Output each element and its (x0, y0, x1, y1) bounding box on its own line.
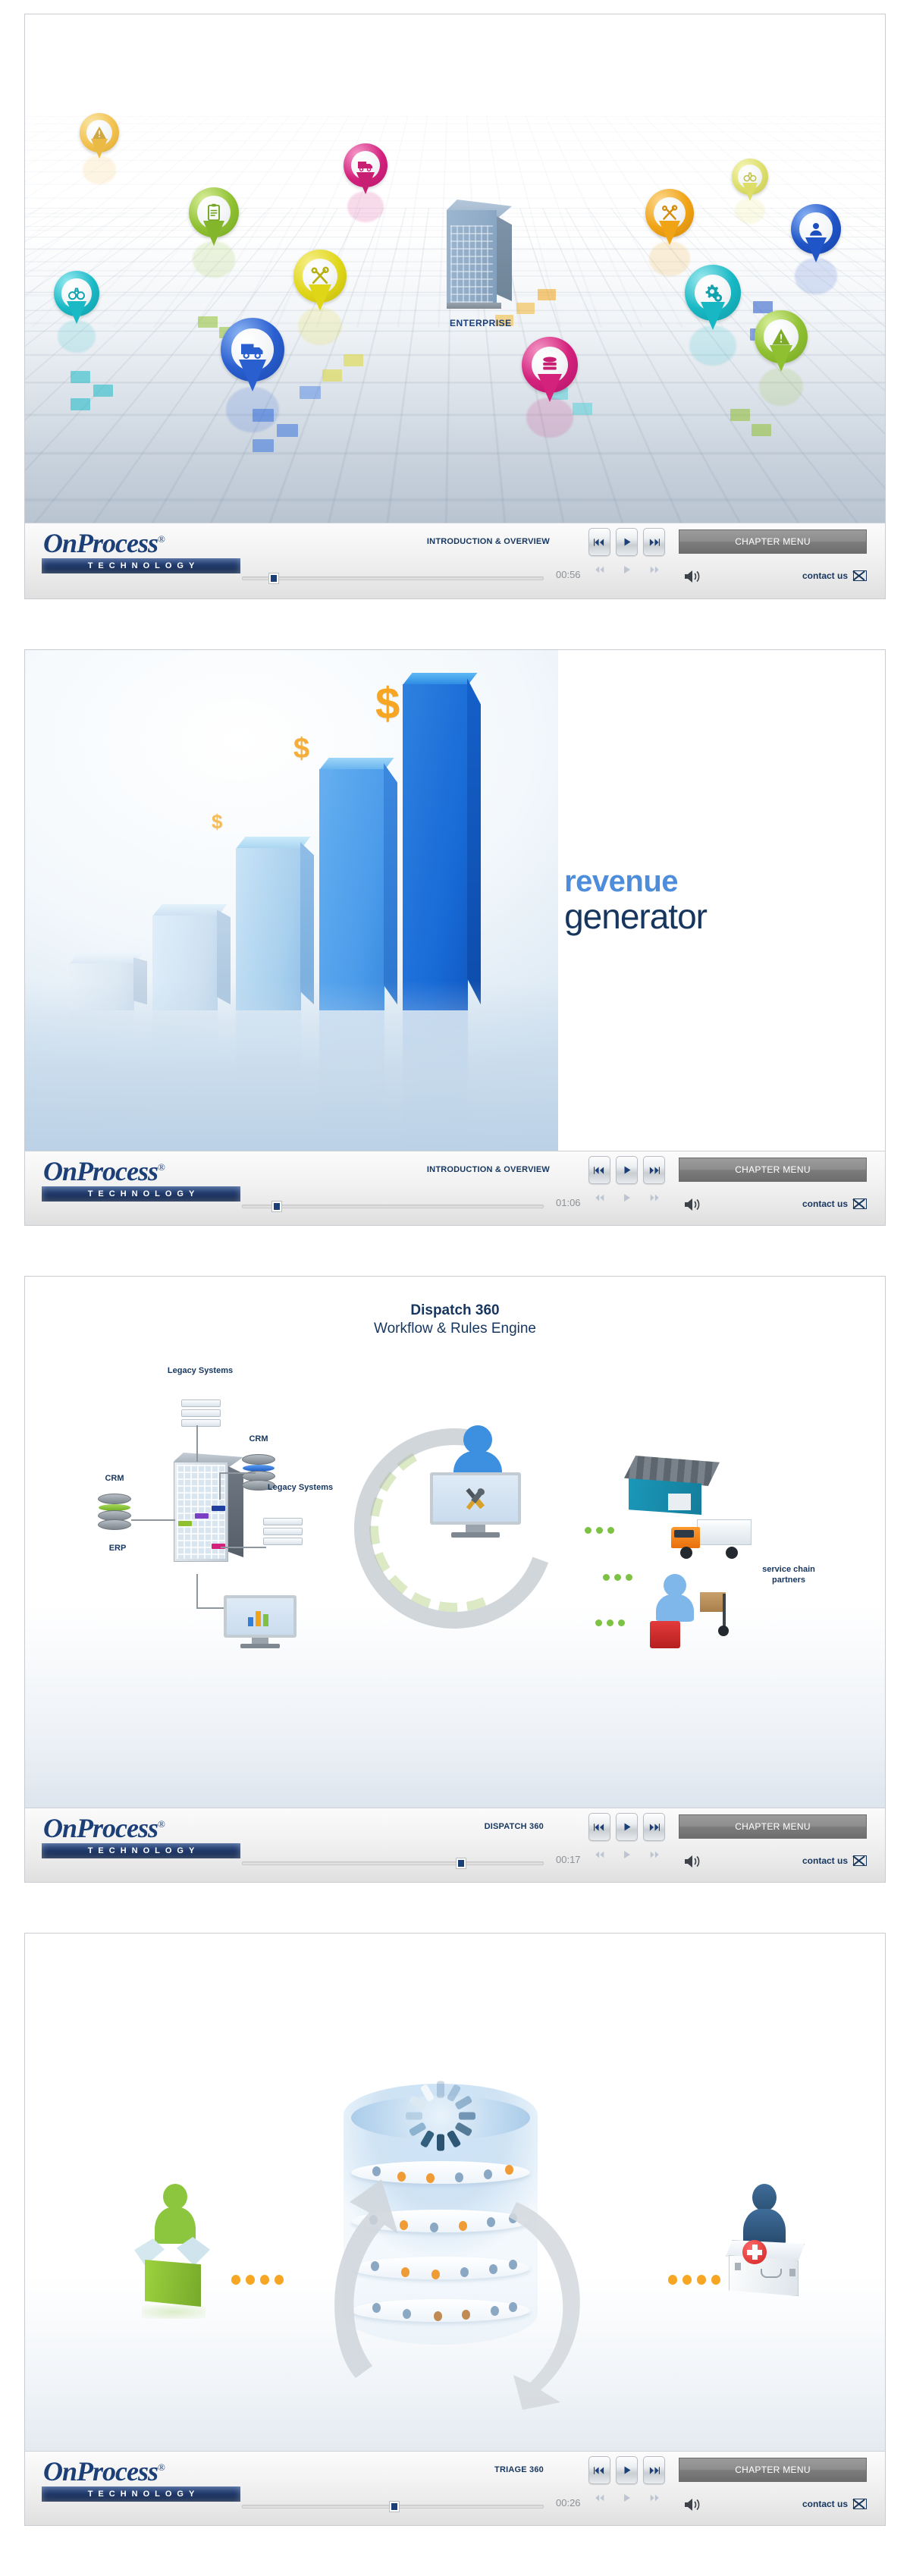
logo-wordmark: OnProcess (43, 1813, 158, 1843)
data-node (460, 2267, 469, 2277)
connector-line (131, 1519, 175, 1521)
radial-fan-icon (391, 2074, 490, 2163)
dot (595, 1619, 602, 1626)
slide-deck-page: ENTERPRISE (0, 14, 910, 2526)
person-head (752, 2184, 777, 2211)
pin-reflection (226, 387, 280, 432)
data-node (426, 2173, 435, 2183)
dot (614, 1574, 621, 1581)
logo-wordmark: OnProcess (43, 1156, 158, 1186)
map-tile (300, 386, 321, 399)
diagram-title-line1: Dispatch 360 (25, 1302, 885, 1319)
warehouse-icon (624, 1456, 720, 1518)
blade-unit (181, 1409, 221, 1417)
enterprise-label: ENTERPRISE (450, 318, 512, 328)
truck-box (697, 1519, 752, 1545)
map-tile (253, 439, 274, 452)
legacy-systems-right-stack (263, 1518, 303, 1548)
rack-led-green (178, 1521, 192, 1526)
label-legacy-top: Legacy Systems (166, 1366, 234, 1375)
label-crm-top: CRM (239, 1434, 278, 1444)
chapter-menu-button[interactable]: CHAPTER MENU (679, 529, 867, 554)
cross-horizontal (747, 2250, 762, 2255)
clipboard-icon (204, 203, 224, 222)
connector-line (219, 1472, 256, 1474)
dot-connector-truck (603, 1574, 632, 1581)
play-button-reflection (616, 1184, 638, 1212)
triage-diagram-canvas (25, 1934, 885, 2451)
red-bag-icon (650, 1621, 680, 1648)
slide-stage-triage-diagram (25, 1934, 885, 2451)
control-buttons-reflection (588, 1841, 665, 1869)
data-node (455, 2172, 463, 2182)
data-node (459, 2221, 467, 2231)
user-icon (806, 219, 826, 239)
chapter-title: INTRODUCTION & OVERVIEW (427, 537, 550, 546)
bar-top-face (152, 904, 227, 916)
progress-knob[interactable] (272, 1202, 281, 1211)
warning-triangle-icon (770, 326, 792, 347)
chart-bar (69, 963, 134, 1010)
onprocess-logo: OnProcess® TECHNOLOGY (42, 1158, 240, 1202)
bar-reflection (69, 1010, 134, 1035)
data-node (430, 2223, 438, 2232)
blade-unit (263, 1538, 303, 1545)
play-button[interactable] (616, 2456, 638, 2484)
contact-us-link[interactable]: contact us (802, 1198, 867, 1209)
progress-knob[interactable] (269, 573, 278, 583)
slide-stage-revenue-chart: $ $ $ revenue generator (25, 650, 885, 1151)
chart-area: $ $ $ (25, 650, 558, 1151)
video-slide-triage-360: OnProcess® TECHNOLOGY TRIAGE 360 CHAPTER… (24, 1933, 886, 2526)
data-node (462, 2310, 470, 2320)
envelope-icon (853, 1855, 867, 1866)
contact-us-link[interactable]: contact us (802, 570, 867, 581)
chapter-menu-button[interactable]: CHAPTER MENU (679, 1158, 867, 1182)
gears-icon (701, 281, 724, 304)
pin-reflection (298, 307, 343, 345)
dot (585, 1527, 591, 1534)
dot (682, 2275, 692, 2285)
data-node (489, 2264, 497, 2274)
bar-top-face (319, 758, 394, 770)
progress-slider[interactable] (242, 1202, 544, 1211)
kit-handle (761, 2269, 782, 2278)
chart-bar (236, 848, 301, 1010)
chart-bar (403, 684, 468, 1010)
dot (607, 1619, 613, 1626)
forward-button-reflection (643, 2484, 665, 2512)
video-slide-revenue-generator: $ $ $ revenue generator OnProcess® TECHN… (24, 649, 886, 1226)
play-button-reflection (616, 2484, 638, 2512)
progress-slider[interactable] (242, 1858, 544, 1868)
dollar-annotation-medium: $ (293, 733, 309, 765)
rewind-button[interactable] (588, 1813, 610, 1841)
kit-latch (735, 2263, 741, 2270)
progress-track[interactable] (242, 576, 544, 580)
logo-technology-band: TECHNOLOGY (42, 1843, 240, 1858)
map-pin-tools-orange[interactable] (645, 189, 694, 237)
person-body (743, 2209, 786, 2245)
map-tile (71, 398, 90, 410)
contact-us-link[interactable]: contact us (802, 2499, 867, 2509)
dollar-annotation-large: $ (375, 678, 400, 729)
person-body (656, 1594, 694, 1622)
technician-person-icon (742, 2184, 786, 2249)
label-legacy-top-text: Legacy Systems (168, 1366, 233, 1375)
onprocess-logo: OnProcess® TECHNOLOGY (42, 1814, 240, 1858)
map-pin-user-blue[interactable] (791, 204, 841, 254)
time-display: 00:26 (556, 2497, 581, 2508)
label-crm-left: CRM (95, 1474, 134, 1483)
data-node (487, 2217, 495, 2227)
registered-mark: ® (158, 1161, 165, 1173)
progress-slider[interactable] (242, 2502, 544, 2511)
handtruck-wheel (718, 1626, 729, 1636)
first-aid-cross-icon (742, 2240, 767, 2264)
bar-side-face (133, 957, 147, 1004)
chapter-menu-button[interactable]: CHAPTER MENU (679, 1814, 867, 1839)
bar-top-face (403, 673, 478, 685)
box-shadow (142, 2305, 206, 2319)
monitor-neck (252, 1638, 268, 1644)
truck-wheel (680, 1547, 692, 1559)
forward-button-reflection (643, 1841, 665, 1869)
registered-mark: ® (158, 1818, 165, 1830)
playback-controls (588, 1156, 665, 1184)
technician-with-kit (723, 2184, 814, 2313)
rack-led-purple (195, 1513, 209, 1519)
enterprise-building-icon (447, 199, 516, 312)
pin-reflection (649, 241, 690, 276)
pin-reflection (83, 156, 116, 184)
time-display: 00:56 (556, 569, 581, 580)
db-disc-top (242, 1454, 275, 1465)
pin-reflection (58, 320, 96, 353)
map-pin-truck-blue[interactable] (221, 318, 284, 382)
dot (626, 1574, 632, 1581)
rewind-button-reflection (588, 2484, 610, 2512)
dollar-annotation-small: $ (212, 810, 222, 834)
box-body (145, 2260, 201, 2307)
pin-reflection (795, 258, 836, 294)
slide-stage-dispatch-diagram: Dispatch 360 Workflow & Rules Engine (25, 1277, 885, 1808)
dot (618, 1619, 625, 1626)
person-head (664, 1574, 686, 1597)
map-pin-warning-green[interactable] (755, 310, 808, 363)
scp-line1: service chain (762, 1565, 815, 1574)
control-buttons-reflection (588, 556, 665, 584)
contact-us-label: contact us (802, 570, 848, 581)
pin-reflection (689, 325, 736, 366)
map-pin-tools-yellow[interactable] (293, 250, 347, 303)
registered-mark: ® (158, 533, 165, 545)
progress-knob[interactable] (457, 1858, 466, 1868)
rewind-button[interactable] (588, 528, 610, 556)
map-tile (538, 289, 556, 300)
video-slide-dispatch-360: Dispatch 360 Workflow & Rules Engine (24, 1276, 886, 1883)
customer-person-icon (154, 2184, 196, 2248)
revenue-chart-layout: $ $ $ revenue generator (25, 650, 885, 1151)
monitor-screen (224, 1595, 297, 1638)
contact-us-label: contact us (802, 1198, 848, 1209)
circulation-arrow-left (300, 2175, 413, 2391)
fast-forward-button[interactable] (643, 1813, 665, 1841)
volume-speaker-icon[interactable] (683, 2497, 703, 2512)
fast-forward-button[interactable] (643, 528, 665, 556)
map-pin-warning-yellow[interactable] (80, 113, 119, 152)
dot (596, 1527, 603, 1534)
diagram-title: Dispatch 360 Workflow & Rules Engine (25, 1302, 885, 1337)
db-disc-top (98, 1494, 131, 1504)
handtruck-load (700, 1592, 726, 1612)
label-erp-left: ERP (98, 1544, 137, 1553)
play-button[interactable] (616, 1156, 638, 1184)
progress-track[interactable] (242, 1205, 544, 1208)
connector-line (219, 1472, 221, 1500)
map-pin-binoculars-teal[interactable] (54, 271, 99, 316)
rewind-button[interactable] (588, 1156, 610, 1184)
blade-unit (263, 1528, 303, 1535)
onprocess-logo: OnProcess® TECHNOLOGY (42, 529, 240, 573)
monitor-base (451, 1532, 500, 1538)
service-desk-monitor (430, 1472, 521, 1545)
dispatch-diagram-canvas: Dispatch 360 Workflow & Rules Engine (25, 1277, 885, 1808)
dot (275, 2275, 284, 2285)
logo-wordmark: OnProcess (43, 528, 158, 558)
volume-speaker-icon[interactable] (683, 1197, 703, 1212)
bar-side-face (384, 763, 397, 1004)
data-node (431, 2270, 440, 2279)
data-node (491, 2306, 499, 2316)
fast-forward-button[interactable] (643, 2456, 665, 2484)
logo-technology-band: TECHNOLOGY (42, 1186, 240, 1202)
forward-button-reflection (643, 1184, 665, 1212)
pin-reflection (193, 241, 234, 278)
time-display: 00:17 (556, 1854, 581, 1865)
bar-reflection (236, 1010, 301, 1095)
rack-side (228, 1466, 243, 1557)
envelope-icon (853, 1198, 867, 1209)
db-disc-bottom (98, 1519, 131, 1530)
map-tile (752, 424, 771, 436)
chart-bar (152, 916, 218, 1010)
playback-controls (588, 528, 665, 556)
blade-unit (263, 1518, 303, 1525)
flow-dots-outbound (668, 2275, 720, 2285)
slide-stage-map-pins: ENTERPRISE (25, 14, 885, 523)
contact-us-label: contact us (802, 1855, 848, 1866)
dot (668, 2275, 677, 2285)
chapter-title: TRIAGE 360 (494, 2465, 544, 2474)
dot (246, 2275, 255, 2285)
chapter-menu-button[interactable]: CHAPTER MENU (679, 2458, 867, 2482)
map-tile (71, 371, 90, 383)
progress-track[interactable] (242, 1861, 544, 1865)
customer-open-box (134, 2184, 218, 2313)
logo-wordmark: OnProcess (43, 2456, 158, 2486)
diagram-title-line2: Workflow & Rules Engine (25, 1321, 885, 1337)
building-side (497, 216, 512, 301)
play-button-reflection (616, 556, 638, 584)
rewind-button[interactable] (588, 2456, 610, 2484)
bar-side-face (467, 678, 481, 1004)
bar-chart-icon (245, 1605, 275, 1628)
scp-line2: partners (772, 1575, 805, 1585)
handtruck-frame (723, 1594, 726, 1629)
map-tile (198, 316, 218, 328)
headline-block: revenue generator (558, 650, 885, 1151)
map-tile (730, 409, 750, 421)
dashboard-monitor (224, 1595, 297, 1654)
headline-generator: generator (564, 898, 885, 935)
service-chain-partners-label: service chain partners (747, 1565, 830, 1586)
bar-front-face (236, 848, 301, 1010)
connector-line (196, 1425, 198, 1462)
chart-bar (319, 769, 384, 1010)
map-pin-gears-teal[interactable] (685, 265, 741, 321)
bar-reflection (403, 1010, 468, 1151)
chapter-title: INTRODUCTION & OVERVIEW (427, 1165, 550, 1174)
enterprise-server-rack (174, 1453, 246, 1566)
dot (697, 2275, 706, 2285)
monitor-screen (430, 1472, 521, 1525)
technician-person-icon (654, 1574, 695, 1624)
video-player-controls: OnProcess® TECHNOLOGY TRIAGE 360 CHAPTER… (25, 2451, 885, 2526)
orange-truck-icon (670, 1518, 755, 1563)
map-pin-clipboard-green[interactable] (189, 187, 239, 237)
video-player-controls: OnProcess® TECHNOLOGY INTRODUCTION & OVE… (25, 523, 885, 599)
blade-unit (181, 1419, 221, 1427)
headline-revenue: revenue (564, 866, 885, 897)
truck-wheel (726, 1547, 738, 1559)
dot (711, 2275, 720, 2285)
person-head (463, 1425, 492, 1454)
label-legacy-right-text: Legacy Systems (268, 1483, 333, 1492)
play-button-reflection (616, 1841, 638, 1869)
kit-latch (789, 2269, 795, 2276)
chapter-title: DISPATCH 360 (485, 1822, 544, 1831)
dot-connector-warehouse (585, 1527, 614, 1534)
monitor-neck (466, 1525, 485, 1532)
pin-reflection (526, 397, 573, 438)
bar-front-face (319, 769, 384, 1010)
progress-slider[interactable] (242, 573, 544, 583)
bar-front-face (403, 684, 468, 1010)
database-icon (538, 353, 561, 376)
volume-speaker-icon[interactable] (683, 569, 703, 584)
logo-technology-band: TECHNOLOGY (42, 558, 240, 573)
legacy-systems-top-stack (181, 1400, 221, 1430)
rewind-button-reflection (588, 556, 610, 584)
map-tile (93, 385, 113, 397)
envelope-icon (853, 570, 867, 581)
building-base (447, 303, 501, 309)
onprocess-logo: OnProcess® TECHNOLOGY (42, 2458, 240, 2502)
truck-window (674, 1530, 694, 1538)
bar-side-face (300, 842, 314, 1004)
data-node (505, 2165, 513, 2175)
data-node (484, 2169, 492, 2179)
warehouse-door (668, 1494, 691, 1510)
map-pin-binoculars-pale[interactable] (732, 159, 768, 195)
person-body (155, 2207, 196, 2244)
bar-top-face (69, 952, 144, 964)
dot-connector-technician (595, 1619, 625, 1626)
contact-us-label: contact us (802, 2499, 848, 2509)
control-buttons-reflection (588, 2484, 665, 2512)
bar-side-face (217, 909, 231, 1004)
bar-front-face (69, 963, 134, 1010)
bar-reflection (152, 1010, 218, 1060)
progress-knob[interactable] (390, 2502, 399, 2512)
person-head (163, 2184, 187, 2210)
video-player-controls: OnProcess® TECHNOLOGY INTRODUCTION & OVE… (25, 1151, 885, 1226)
connector-line (196, 1574, 198, 1607)
play-button[interactable] (616, 528, 638, 556)
tools-icon (458, 1484, 493, 1514)
map-pin-truck-magenta[interactable] (344, 143, 388, 187)
bar-front-face (152, 916, 218, 1010)
rewind-button-reflection (588, 1184, 610, 1212)
hand-truck-icon (697, 1592, 739, 1636)
map-tile (344, 354, 363, 366)
building-windows (450, 225, 493, 309)
volume-speaker-icon[interactable] (683, 1854, 703, 1869)
flow-dots-inbound (231, 2275, 284, 2285)
dot (260, 2275, 269, 2285)
video-slide-introduction-map: ENTERPRISE (24, 14, 886, 599)
label-legacy-right: Legacy Systems (266, 1483, 334, 1492)
map-tile (322, 369, 342, 382)
map-pin-database-magenta[interactable] (522, 337, 578, 393)
video-player-controls: OnProcess® TECHNOLOGY DISPATCH 360 CHAPT… (25, 1808, 885, 1883)
bar-top-face (236, 837, 311, 849)
time-display: 01:06 (556, 1197, 581, 1208)
blade-unit (181, 1400, 221, 1407)
logo-technology-band: TECHNOLOGY (42, 2486, 240, 2502)
contact-us-link[interactable]: contact us (802, 1855, 867, 1866)
control-buttons-reflection (588, 1184, 665, 1212)
playback-controls (588, 1813, 665, 1841)
database-crm-left (98, 1494, 131, 1530)
connector-line (221, 1547, 266, 1548)
envelope-icon (853, 2499, 867, 2509)
data-node (434, 2311, 442, 2321)
registered-mark: ® (158, 2461, 165, 2473)
rack-led-blue (212, 1506, 225, 1511)
rewind-button-reflection (588, 1841, 610, 1869)
building-front (447, 210, 497, 307)
dot (607, 1527, 614, 1534)
map-tile (277, 424, 298, 437)
fast-forward-button[interactable] (643, 1156, 665, 1184)
dot (603, 1574, 610, 1581)
map-tile (573, 403, 592, 415)
circulation-arrow-right (500, 2196, 636, 2420)
pin-reflection (759, 368, 804, 406)
playback-controls (588, 2456, 665, 2484)
forward-button-reflection (643, 556, 665, 584)
dot (231, 2275, 240, 2285)
monitor-base (240, 1644, 280, 1648)
tools-icon (660, 203, 679, 223)
map-tile (516, 303, 535, 314)
bar-reflection (319, 1010, 384, 1136)
play-button[interactable] (616, 1813, 638, 1841)
